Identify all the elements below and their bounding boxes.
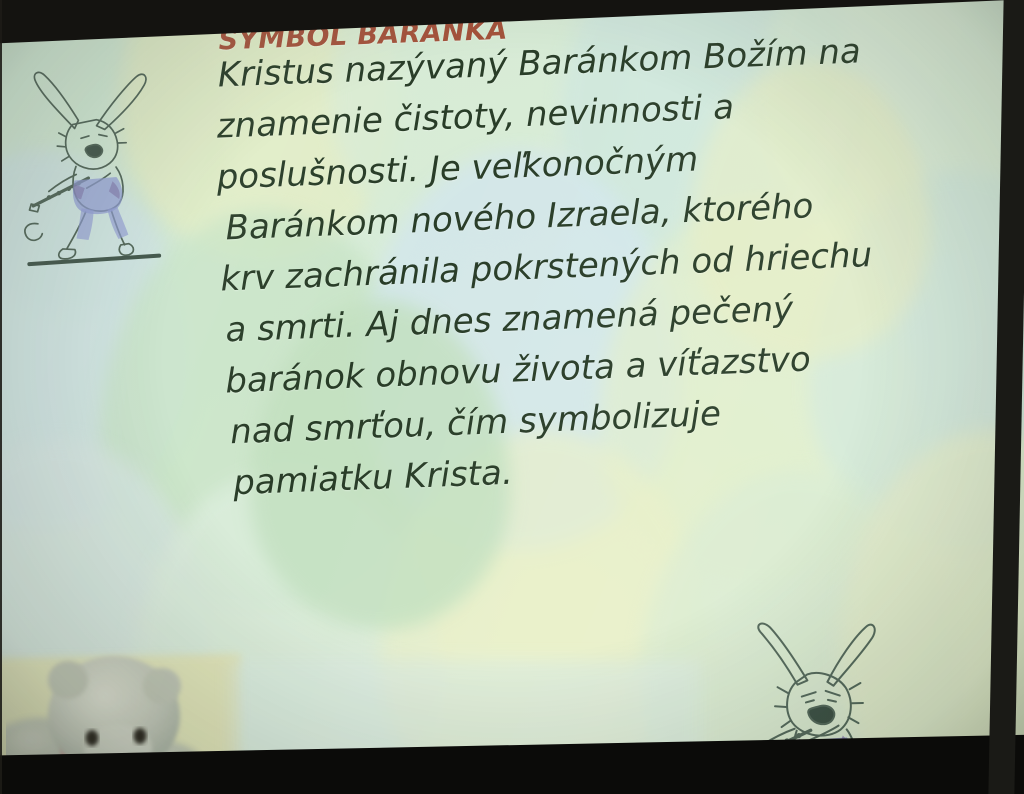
bunny-flute-icon-left xyxy=(10,59,167,274)
presentation-slide: SYMBOL BARÁNKA Kristus nazývaný Baránkom… xyxy=(0,0,1024,794)
screen-edge-left xyxy=(0,0,2,794)
slide-text-block: SYMBOL BARÁNKA Kristus nazývaný Baránkom… xyxy=(204,0,982,518)
slide-body-text: Kristus nazývaný Baránkom Božím naznamen… xyxy=(205,30,981,500)
screenshot-stage: SYMBOL BARÁNKA Kristus nazývaný Baránkom… xyxy=(0,0,1024,794)
